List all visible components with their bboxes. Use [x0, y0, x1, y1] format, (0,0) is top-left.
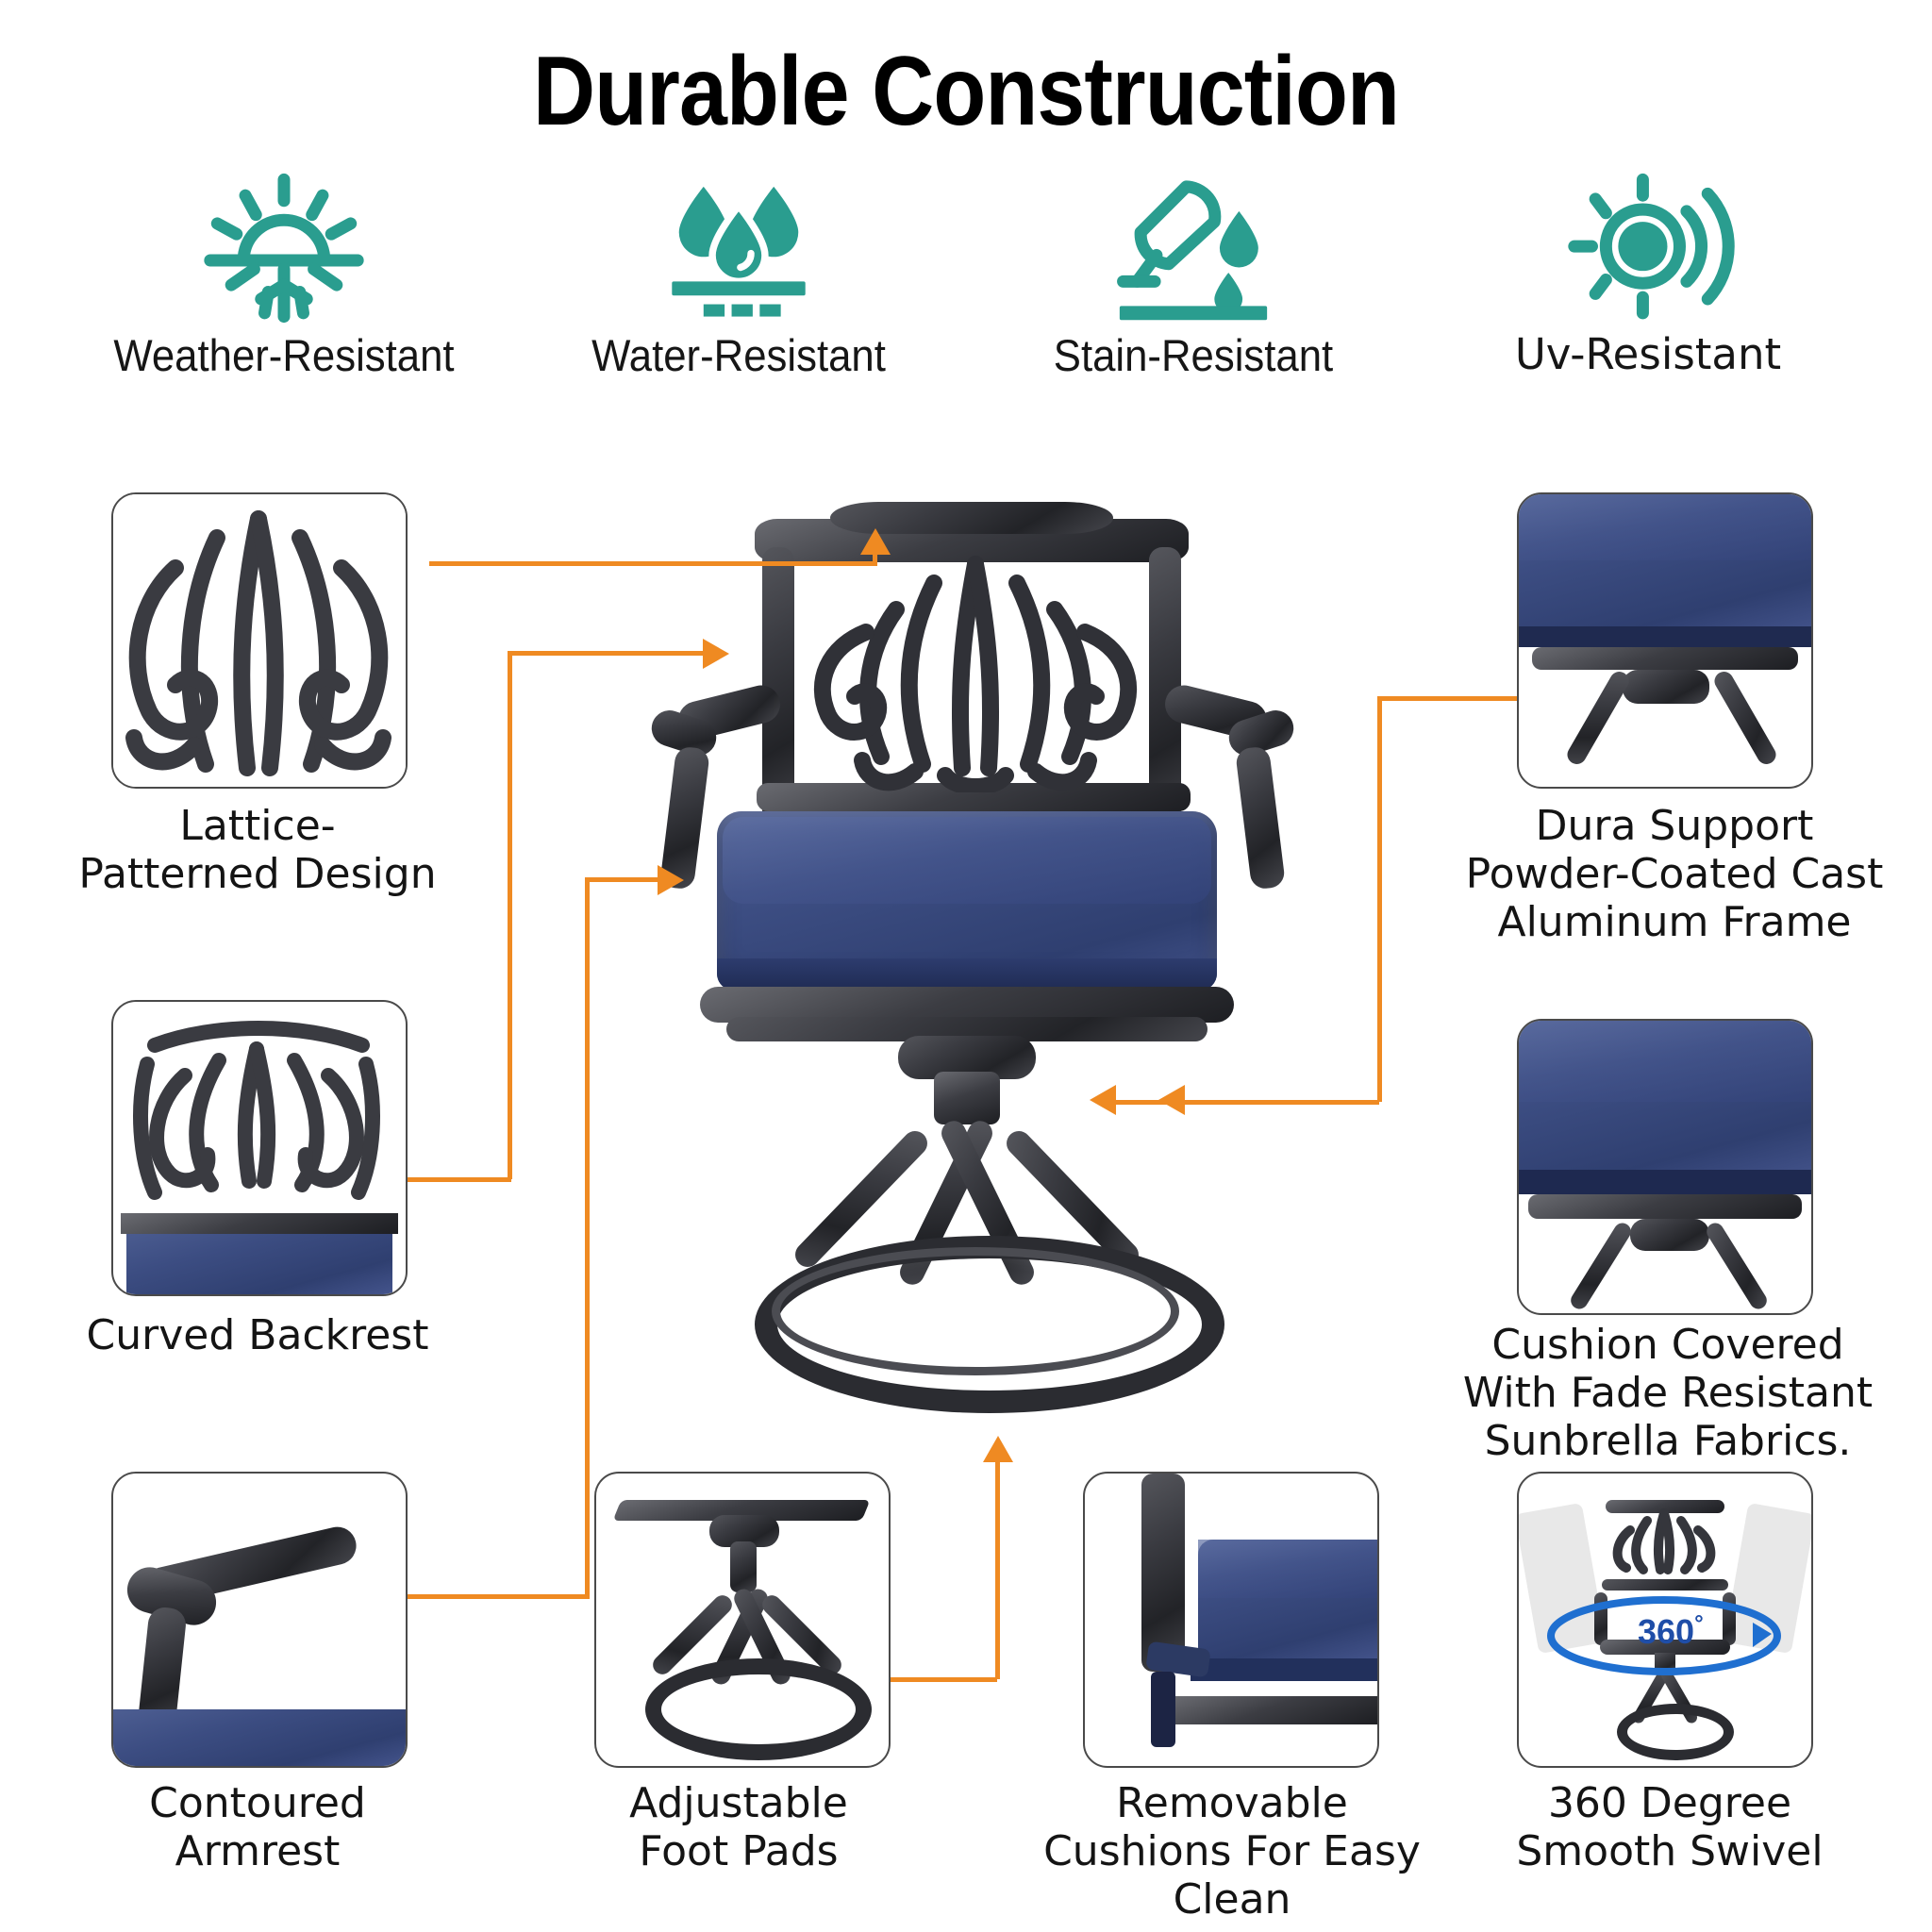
- page-title: Durable Construction: [116, 36, 1816, 148]
- feature-label: Stain-Resistant: [982, 329, 1405, 381]
- callout-thumb-dura-support[interactable]: [1517, 492, 1813, 789]
- sun-snowflake-icon: [57, 170, 511, 325]
- feature-stain-resistant: Stain-Resistant: [966, 170, 1421, 425]
- uv-sun-rays-icon: [1421, 170, 1875, 325]
- hero-chair-image: [651, 500, 1292, 1491]
- caption-foot-pads: Adjustable Foot Pads: [526, 1779, 951, 1875]
- infographic-canvas: Durable Construction: [0, 0, 1932, 1932]
- callout-thumb-lattice[interactable]: [111, 492, 408, 789]
- callout-thumb-curved-backrest[interactable]: [111, 1000, 408, 1296]
- callout-thumb-sunbrella[interactable]: [1517, 1019, 1813, 1315]
- callout-thumb-foot-pads[interactable]: [594, 1472, 891, 1768]
- caption-sunbrella: Cushion Covered With Fade Resistant Sunb…: [1441, 1321, 1894, 1465]
- feature-label: Water-Resistant: [527, 329, 950, 381]
- caption-armrest: Contoured Armrest: [45, 1779, 470, 1875]
- callout-thumb-armrest[interactable]: [111, 1472, 408, 1768]
- feature-uv-resistant: Uv-Resistant: [1421, 170, 1875, 425]
- callout-thumb-swivel[interactable]: 360°: [1517, 1472, 1813, 1768]
- feature-label: Weather-Resistant: [73, 329, 495, 381]
- swivel-degree-badge: 360°: [1638, 1611, 1704, 1652]
- caption-dura-support: Dura Support Powder-Coated Cast Aluminum…: [1453, 802, 1896, 946]
- feature-badges-row: Weather-Resistant Water-Resistant: [57, 170, 1875, 425]
- water-droplets-icon: [511, 170, 966, 325]
- spilled-wine-glass-icon: [966, 170, 1421, 325]
- feature-label: Uv-Resistant: [1421, 329, 1875, 379]
- feature-water-resistant: Water-Resistant: [511, 170, 966, 425]
- caption-curved-backrest: Curved Backrest: [45, 1311, 470, 1359]
- caption-lattice: Lattice- Patterned Design: [36, 802, 479, 898]
- callout-thumb-removable-cushion[interactable]: [1083, 1472, 1379, 1768]
- feature-weather-resistant: Weather-Resistant: [57, 170, 511, 425]
- caption-swivel: 360 Degree Smooth Swivel: [1481, 1779, 1858, 1875]
- caption-removable-cushion: Removable Cushions For Easy Clean: [1015, 1779, 1449, 1924]
